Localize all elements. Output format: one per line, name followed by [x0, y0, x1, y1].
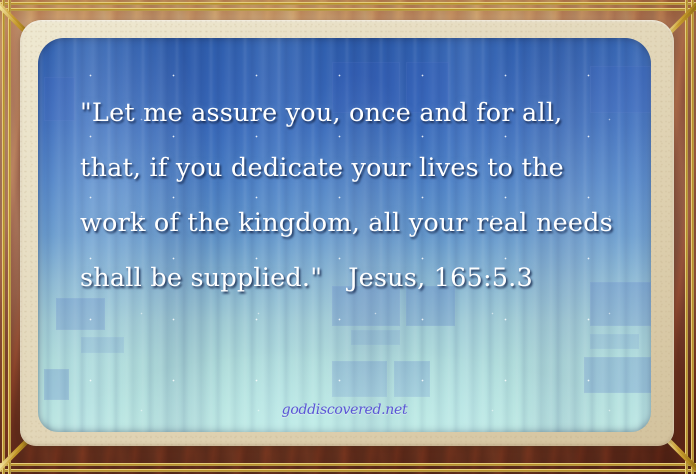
site-watermark: goddiscovered.net	[38, 402, 651, 418]
quote-citation: Jesus, 165:5.3	[322, 263, 533, 293]
quote-line-4: shall be supplied."Jesus, 165:5.3	[80, 251, 621, 306]
artwork-canvas: "Let me assure you, once and for all, th…	[38, 38, 651, 432]
quote-line-4-text: shall be supplied."	[80, 263, 322, 293]
quote-text-block: "Let me assure you, once and for all, th…	[80, 86, 621, 306]
quote-line-2: that, if you dedicate your lives to the	[80, 141, 621, 196]
quote-line-1: "Let me assure you, once and for all,	[80, 86, 621, 141]
quote-image-card: "Let me assure you, once and for all, th…	[0, 0, 696, 474]
quote-line-3: work of the kingdom, all your real needs	[80, 196, 621, 251]
